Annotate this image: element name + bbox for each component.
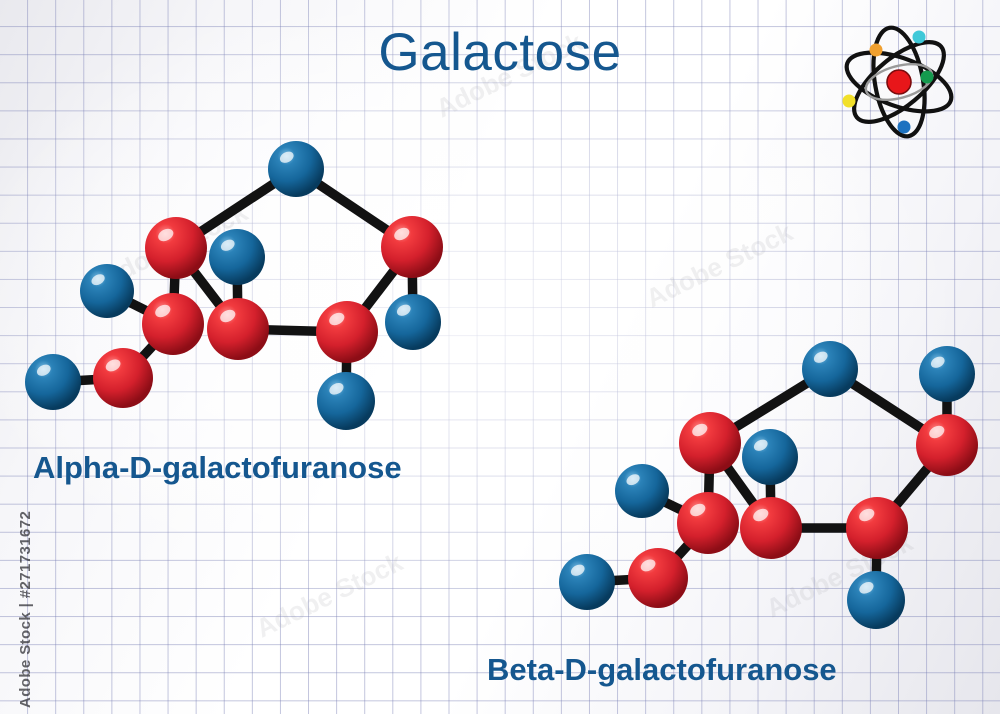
specular-highlight (569, 562, 587, 578)
atom-layer (25, 141, 978, 629)
atom-oxygen (802, 341, 858, 397)
atom-oxygen (919, 346, 975, 402)
electron-blue (898, 121, 911, 134)
specular-highlight (639, 557, 658, 574)
bond (642, 491, 708, 523)
atom-carbon (628, 548, 688, 608)
bond (658, 523, 708, 578)
atom-carbon (679, 412, 741, 474)
nucleus (887, 70, 911, 94)
atom-oxygen (615, 464, 669, 518)
bond (770, 457, 771, 528)
specular-highlight (278, 149, 296, 165)
specular-highlight (327, 310, 346, 327)
specular-highlight (218, 307, 237, 324)
bond (710, 369, 830, 443)
bond (877, 445, 947, 528)
atom-oxygen (317, 372, 375, 430)
atom-carbon (93, 348, 153, 408)
electron-cyan (913, 31, 926, 44)
ghost-watermark: Adobe Stock (251, 547, 407, 645)
specular-highlight (35, 362, 53, 378)
electron-green (921, 71, 934, 84)
specular-highlight (690, 421, 709, 438)
atom-oxygen (268, 141, 324, 197)
specular-highlight (327, 381, 345, 397)
specular-highlight (153, 302, 172, 319)
bond (238, 329, 347, 332)
side-watermark: Adobe Stock | #271731672 (17, 511, 34, 708)
atom-carbon (381, 216, 443, 278)
ghost-watermark: Adobe Stock (96, 197, 252, 295)
specular-highlight (929, 354, 947, 370)
specular-highlight (927, 423, 946, 440)
specular-highlight (812, 349, 830, 365)
poster-canvas: Adobe Stock Adobe Stock Adobe Stock Adob… (0, 0, 1000, 714)
bond (587, 578, 658, 582)
bond (347, 247, 412, 332)
bond (237, 257, 238, 329)
atom-carbon (916, 414, 978, 476)
specular-highlight (392, 225, 411, 242)
specular-highlight (688, 501, 707, 518)
caption-beta-d-galactofuranose: Beta-D-galactofuranose (487, 654, 837, 685)
bond (296, 169, 412, 247)
alpha-d-galactofuranose-atoms (25, 141, 443, 430)
atom-oxygen (559, 554, 615, 610)
atom-icon (836, 22, 962, 142)
bond (710, 443, 771, 528)
bond (107, 291, 173, 324)
bond (708, 443, 710, 523)
atom-carbon (142, 293, 204, 355)
atom-carbon (677, 492, 739, 554)
specular-highlight (752, 437, 770, 453)
specular-highlight (625, 472, 642, 487)
bond (412, 247, 413, 322)
bond (346, 332, 347, 401)
beta-d-galactofuranose-atoms (559, 341, 978, 629)
bond (830, 369, 947, 445)
caption-alpha-d-galactofuranose: Alpha-D-galactofuranose (33, 452, 402, 483)
atom-carbon (316, 301, 378, 363)
bond (123, 324, 173, 378)
specular-highlight (857, 506, 876, 523)
ghost-watermark: Adobe Stock (761, 527, 917, 625)
specular-highlight (395, 302, 413, 318)
atom-oxygen (385, 294, 441, 350)
electron-orange (870, 44, 883, 57)
atom-oxygen (25, 354, 81, 410)
bond (53, 378, 123, 382)
atom-carbon (207, 298, 269, 360)
ghost-watermark: Adobe Stock (641, 217, 797, 315)
electron-yellow (843, 95, 856, 108)
specular-highlight (751, 506, 770, 523)
specular-highlight (104, 357, 123, 374)
atom-oxygen (742, 429, 798, 485)
atom-carbon (740, 497, 802, 559)
bond (176, 248, 238, 329)
